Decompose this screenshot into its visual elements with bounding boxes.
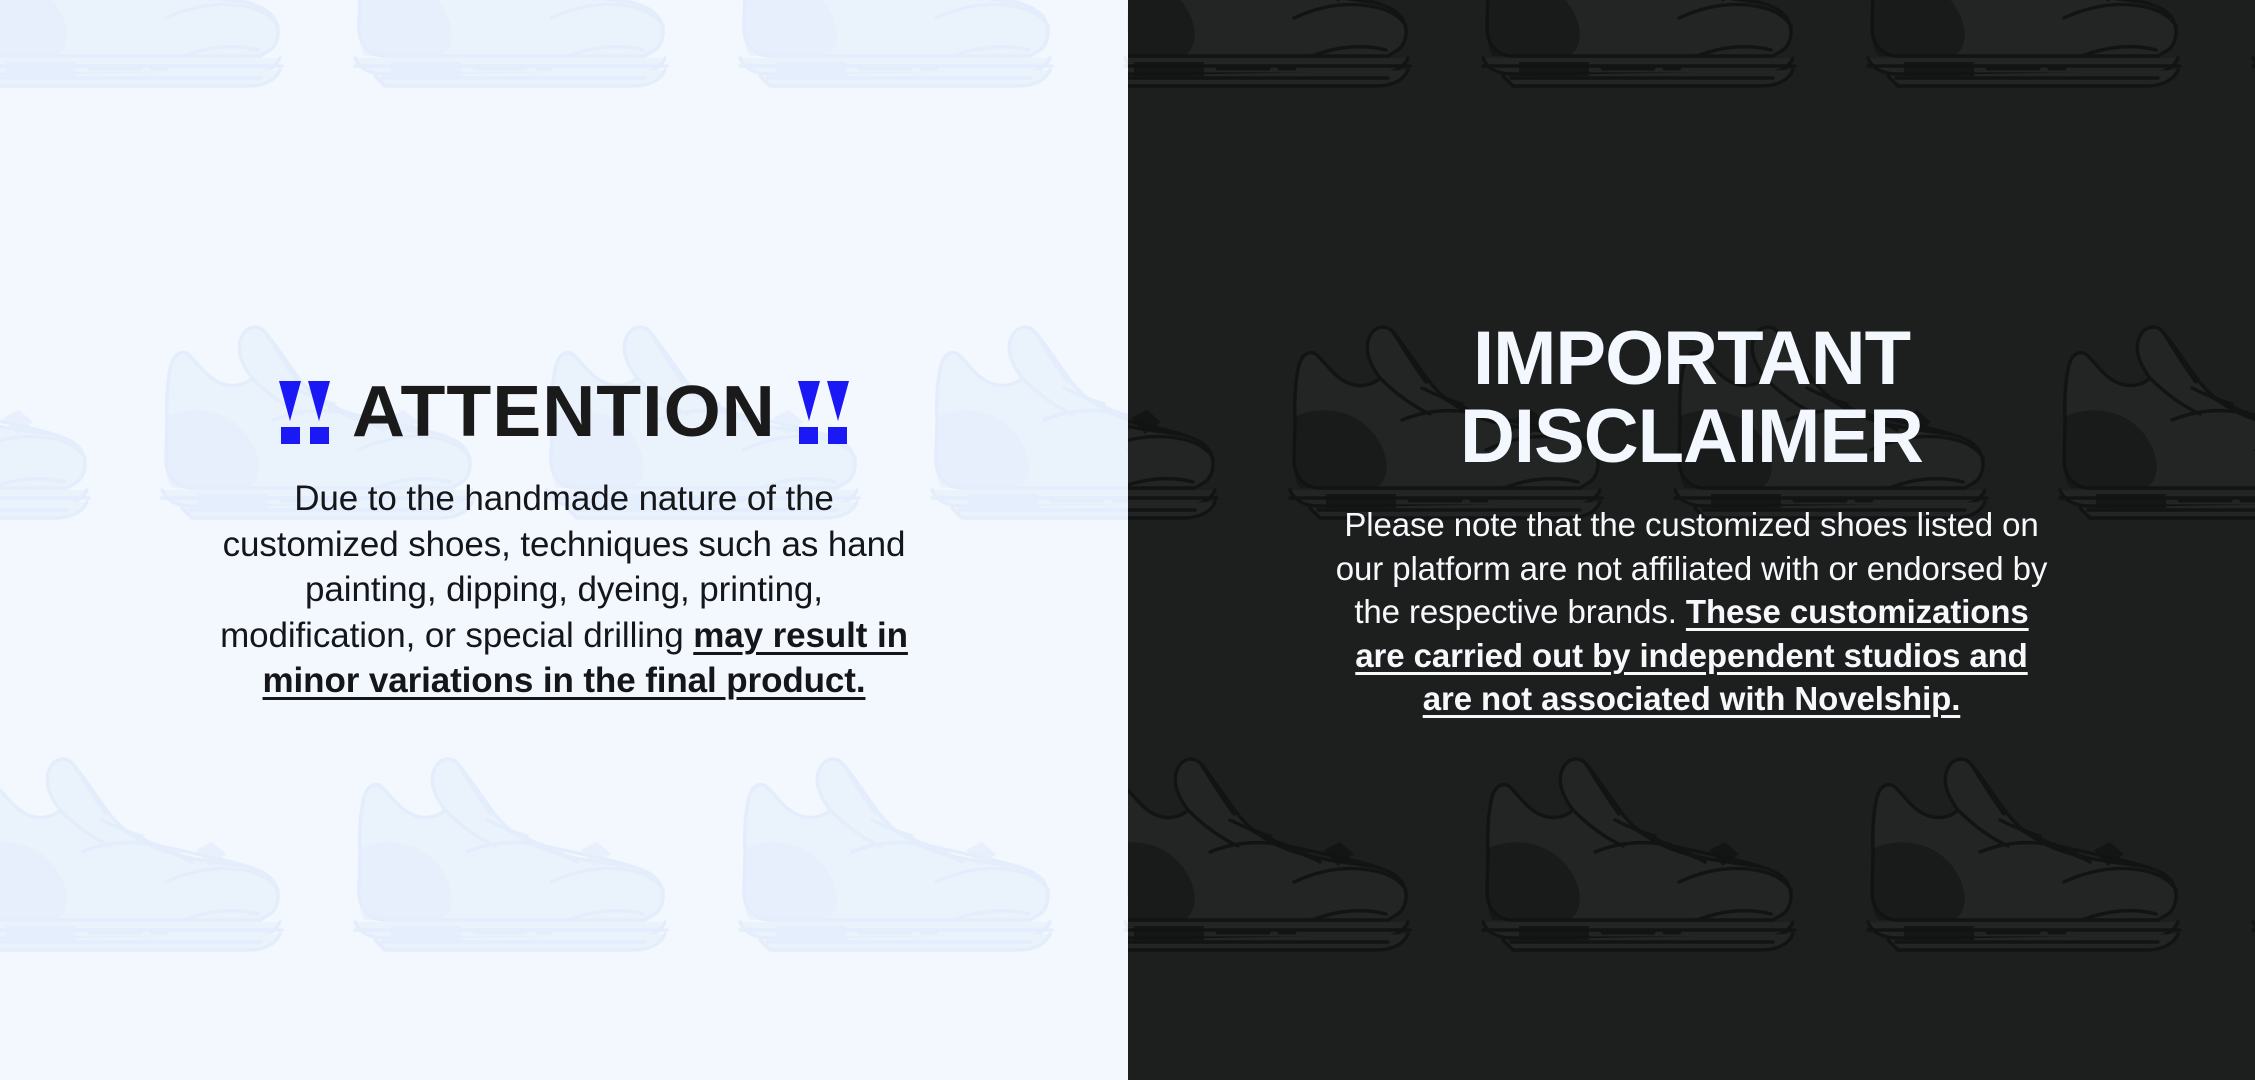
disclaimer-content: IMPORTANT DISCLAIMER Please note that th…: [1128, 0, 2255, 1080]
attention-panel: ATTENTION Due to the handmade nature of …: [0, 0, 1128, 1080]
double-exclamation-icon-right: [798, 381, 849, 444]
double-exclamation-icon-left: [279, 381, 330, 444]
split-banner: ATTENTION Due to the handmade nature of …: [0, 0, 2255, 1080]
attention-body: Due to the handmade nature of the custom…: [214, 476, 914, 704]
disclaimer-heading: IMPORTANT DISCLAIMER: [1382, 320, 2002, 475]
attention-heading: ATTENTION: [279, 378, 849, 446]
attention-heading-text: ATTENTION: [352, 378, 776, 446]
disclaimer-panel: IMPORTANT DISCLAIMER Please note that th…: [1128, 0, 2255, 1080]
attention-content: ATTENTION Due to the handmade nature of …: [0, 0, 1128, 1080]
disclaimer-body: Please note that the customized shoes li…: [1327, 503, 2057, 721]
